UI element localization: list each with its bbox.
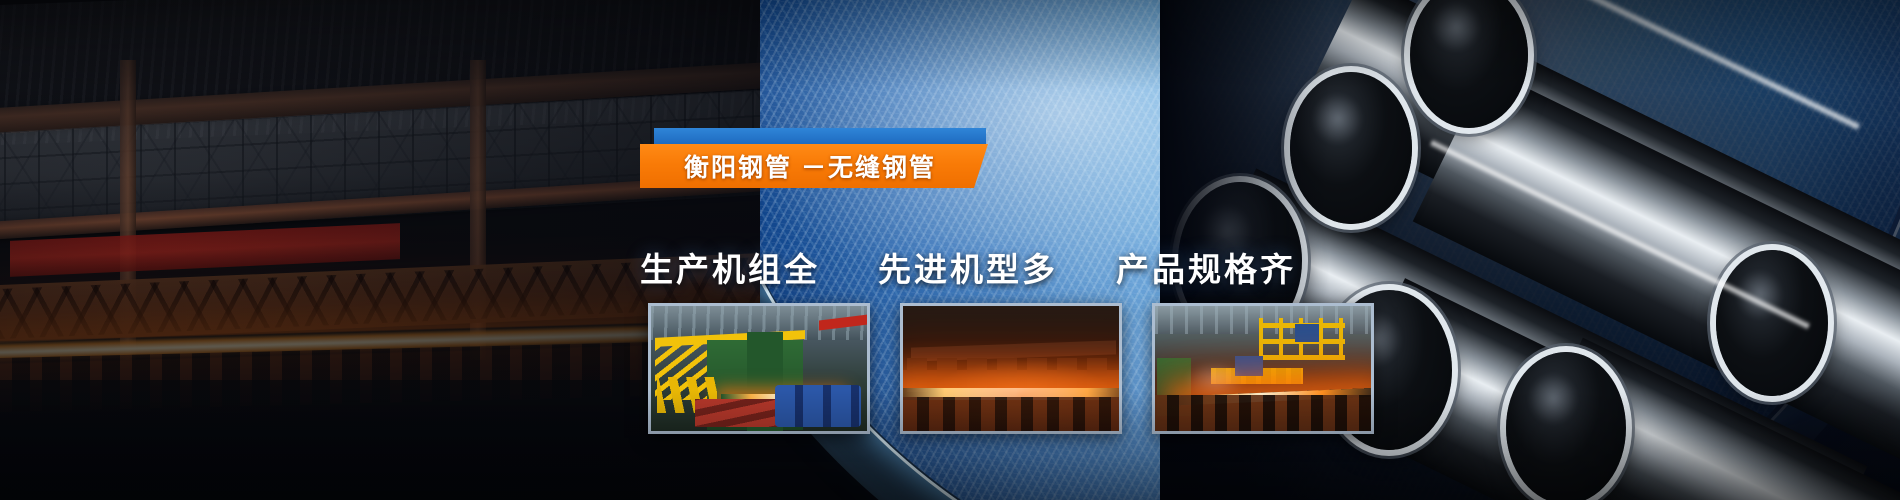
thumbnail-3[interactable] (1152, 303, 1374, 434)
title-badge: 衡阳钢管 －无缝钢管 (640, 128, 988, 188)
thumbnail-2[interactable] (900, 303, 1122, 434)
thumbnail-row (648, 303, 1374, 434)
hero-banner: 衡阳钢管 －无缝钢管 生产机组全 先进机型多 产品规格齐 (0, 0, 1900, 500)
banner-content: 衡阳钢管 －无缝钢管 生产机组全 先进机型多 产品规格齐 (0, 0, 1900, 500)
headline-item-3: 产品规格齐 (1116, 243, 1296, 291)
thumbnail-1[interactable] (648, 303, 870, 434)
thumbnail-1-image (651, 306, 867, 431)
thumbnail-3-image (1155, 306, 1371, 431)
headline-item-1: 生产机组全 (640, 243, 820, 291)
badge-label: 衡阳钢管 －无缝钢管 (684, 148, 936, 184)
headline-group: 生产机组全 先进机型多 产品规格齐 (640, 243, 1296, 291)
headline-item-2: 先进机型多 (878, 243, 1058, 291)
badge-body: 衡阳钢管 －无缝钢管 (640, 144, 988, 188)
badge-top-bar (654, 128, 986, 144)
thumbnail-2-image (903, 306, 1119, 431)
